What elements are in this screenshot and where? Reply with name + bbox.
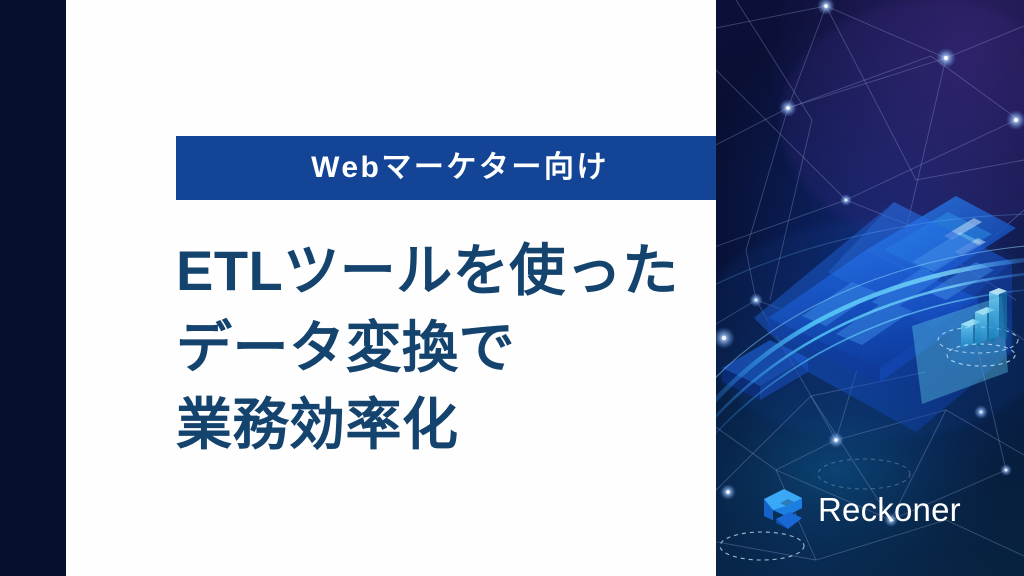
reckoner-logo-mark-icon [762, 487, 804, 531]
eyebrow-label: Webマーケター向け [311, 153, 609, 183]
headline-line-1: ETLツールを使った [176, 232, 776, 309]
headline-line-2: データ変換で [176, 309, 776, 386]
headline-line-3: 業務効率化 [176, 386, 776, 463]
content-area: Webマーケター向け ETLツールを使った データ変換で 業務効率化 [66, 0, 716, 576]
left-accent-strip [0, 0, 66, 576]
slide-root: Webマーケター向け ETLツールを使った データ変換で 業務効率化 [0, 0, 1024, 576]
reckoner-logo-text: Reckoner [818, 493, 961, 526]
page-title: ETLツールを使った データ変換で 業務効率化 [176, 232, 776, 463]
reckoner-logo: Reckoner [762, 487, 961, 531]
eyebrow-banner: Webマーケター向け [176, 136, 744, 200]
